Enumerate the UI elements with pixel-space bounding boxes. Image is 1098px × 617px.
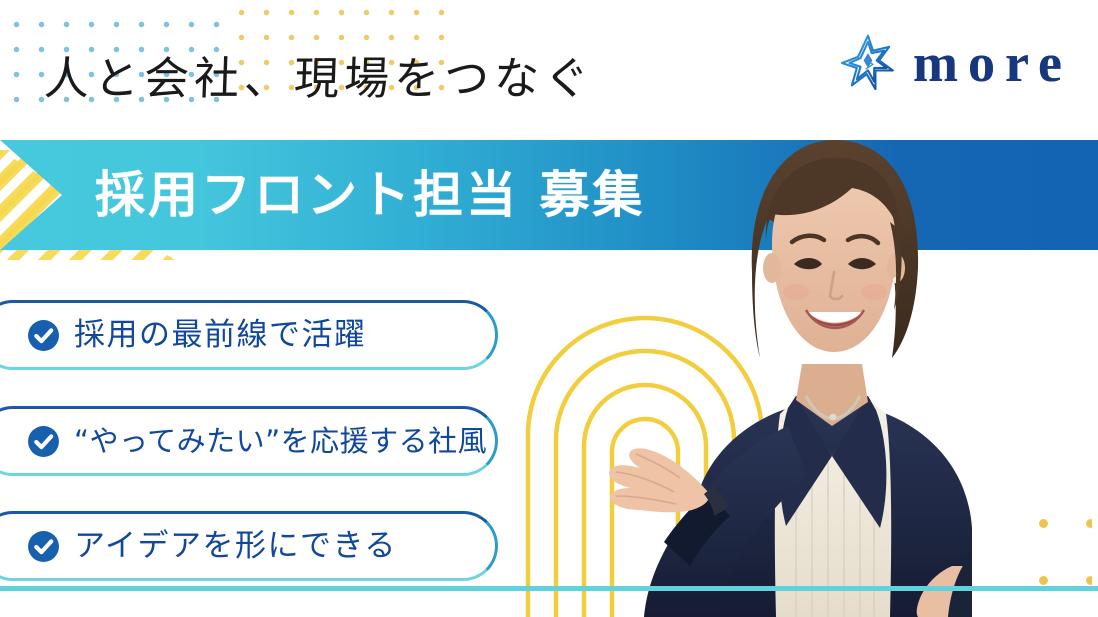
brand-logo-text: more (913, 36, 1072, 90)
feature-pill-1-label: 採用の最前線で活躍 (74, 320, 367, 351)
check-circle-icon (27, 530, 60, 563)
feature-pill-3-label: アイデアを形にできる (74, 531, 397, 562)
check-circle-icon (27, 319, 60, 352)
bottom-accent-rule (0, 586, 1098, 591)
check-circle-icon (27, 425, 60, 458)
star-pinwheel-icon (837, 32, 899, 94)
headline-tagline: 人と会社、現場をつなぐ (43, 56, 595, 101)
recruitment-banner: 人と会社、現場をつなぐ more (0, 0, 1098, 617)
feature-pill-3: アイデアを形にできる (0, 511, 498, 581)
feature-pill-2-label: “やってみたい”を応援する社風 (74, 427, 487, 456)
businesswoman-photo (600, 96, 1030, 617)
brand-logo[interactable]: more (837, 32, 1072, 94)
feature-pill-2: “やってみたい”を応援する社風 (0, 406, 498, 476)
feature-pill-1: 採用の最前線で活躍 (0, 300, 498, 370)
